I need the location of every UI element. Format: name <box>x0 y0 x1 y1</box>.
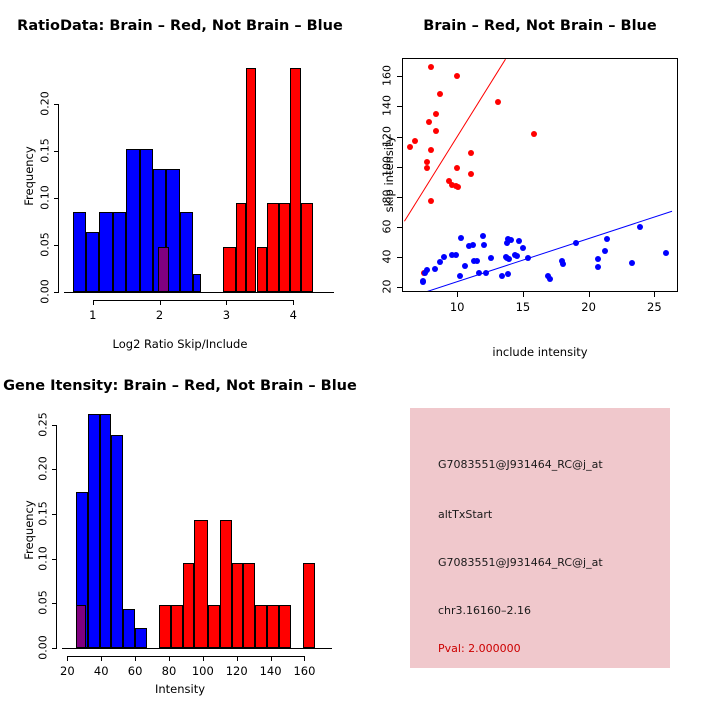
histogram-bar <box>303 563 315 648</box>
scatter-point <box>420 279 426 285</box>
annotation-line: altTxStart <box>438 508 492 521</box>
scatter-point <box>481 242 487 248</box>
scatter-point <box>468 171 474 177</box>
scatter-point <box>488 255 494 261</box>
y-tick <box>54 245 59 246</box>
histogram-bar <box>279 203 290 292</box>
scatter-point <box>505 271 511 277</box>
y-tick <box>54 104 59 105</box>
x-tick <box>237 656 238 661</box>
y-tick <box>52 559 57 560</box>
x-tick <box>654 292 655 297</box>
scatter-point <box>514 253 520 259</box>
scatter-point <box>547 276 553 282</box>
scatter-point <box>454 73 460 79</box>
y-tick <box>397 197 402 198</box>
scatter-point <box>428 198 434 204</box>
histogram-bar <box>183 563 195 648</box>
ratio-histogram-title: RatioData: Brain – Red, Not Brain – Blue <box>0 18 360 34</box>
histogram-bar <box>232 563 244 648</box>
y-axis-label: Frequency <box>22 116 36 236</box>
annotation-line: G7083551@J931464_RC@j_at <box>438 458 603 471</box>
scatter-point <box>433 128 439 134</box>
y-tick <box>52 469 57 470</box>
scatter-point <box>520 245 526 251</box>
y-tick <box>52 603 57 604</box>
scatter-point <box>437 91 443 97</box>
scatter-point <box>604 236 610 242</box>
histogram-bar <box>246 68 256 292</box>
x-tick <box>457 292 458 297</box>
scatter-point <box>499 273 505 279</box>
scatter-point <box>468 150 474 156</box>
histogram-bar <box>76 605 86 648</box>
histogram-bar <box>73 212 86 292</box>
scatter-point <box>595 264 601 270</box>
y-tick <box>397 167 402 168</box>
y-tick-label: 0.15 <box>37 494 50 534</box>
x-tick <box>523 292 524 297</box>
scatter-point <box>525 255 531 261</box>
y-tick-label: 0.00 <box>37 628 50 668</box>
y-tick <box>54 198 59 199</box>
scatter-point <box>457 273 463 279</box>
x-tick <box>93 300 94 305</box>
scatter-point <box>412 138 418 144</box>
scatter-title: Brain – Red, Not Brain – Blue <box>360 18 720 34</box>
y-tick-label: 0.10 <box>37 538 50 578</box>
x-tick <box>169 656 170 661</box>
scatter-frame <box>402 58 678 292</box>
y-tick <box>52 648 57 649</box>
scatter-point <box>516 238 522 244</box>
y-axis-line <box>56 425 57 648</box>
y-tick-label: 0.00 <box>39 272 52 312</box>
annotation-box: G7083551@J931464_RC@j_ataltTxStartG70835… <box>410 408 670 668</box>
scatter-point <box>474 258 480 264</box>
x-axis-line <box>93 300 294 301</box>
x-tick-label: 10 <box>437 300 477 314</box>
y-tick <box>397 227 402 228</box>
histogram-bar <box>158 247 169 292</box>
histogram-bar <box>126 149 139 292</box>
scatter-point <box>495 99 501 105</box>
scatter-point <box>407 144 413 150</box>
histogram-bar <box>220 520 232 648</box>
y-tick-label: 160 <box>381 56 394 96</box>
histogram-bar <box>257 247 267 292</box>
panel-gene-intensity-histogram: Gene Itensity: Brain – Red, Not Brain – … <box>0 360 360 720</box>
scatter-point <box>476 270 482 276</box>
panel-annotation: G7083551@J931464_RC@j_ataltTxStartG70835… <box>360 360 720 720</box>
histogram-bar <box>111 435 123 648</box>
x-tick <box>304 656 305 661</box>
scatter-point <box>455 184 461 190</box>
histogram-bar <box>236 203 246 292</box>
y-tick <box>397 257 402 258</box>
y-axis-label: skip intensity <box>382 104 396 244</box>
histogram-bar <box>86 232 99 292</box>
histogram-bar <box>208 605 220 648</box>
scatter-point <box>560 261 566 267</box>
histogram-bar <box>255 605 267 648</box>
x-tick <box>226 300 227 305</box>
histogram-bar <box>99 212 112 292</box>
scatter-point <box>466 243 472 249</box>
histogram-bar <box>243 563 255 648</box>
scatter-point <box>504 240 510 246</box>
scatter-point <box>428 64 434 70</box>
scatter-point <box>424 165 430 171</box>
y-tick-label: 0.05 <box>37 583 50 623</box>
scatter-point <box>480 233 486 239</box>
annotation-pval: Pval: 2.000000 <box>438 642 521 655</box>
x-axis-baseline <box>62 648 332 649</box>
histogram-bar <box>171 605 183 648</box>
x-axis-label: Intensity <box>0 682 360 696</box>
histogram-bar <box>140 149 153 292</box>
x-tick-label: 25 <box>634 300 674 314</box>
scatter-point <box>637 224 643 230</box>
histogram-bar <box>159 605 171 648</box>
histogram-bar <box>123 609 135 648</box>
scatter-point <box>595 256 601 262</box>
scatter-point <box>663 250 669 256</box>
annotation-line: chr3.16160–2.16 <box>438 604 531 617</box>
x-tick-label: 4 <box>273 308 313 322</box>
y-tick <box>397 137 402 138</box>
scatter-point <box>462 263 468 269</box>
y-tick-label: 0.25 <box>37 404 50 444</box>
histogram-bar <box>267 605 279 648</box>
x-tick <box>160 300 161 305</box>
histogram-bar <box>194 520 208 648</box>
annotation-line: G7083551@J931464_RC@j_at <box>438 556 603 569</box>
x-tick <box>67 656 68 661</box>
x-tick-label: 2 <box>140 308 180 322</box>
x-tick-label: 15 <box>503 300 543 314</box>
y-tick <box>54 151 59 152</box>
histogram-bar <box>267 203 279 292</box>
scatter-point <box>432 266 438 272</box>
x-tick-label: 20 <box>569 300 609 314</box>
regression-line <box>404 59 506 222</box>
x-tick <box>271 656 272 661</box>
x-tick-label: 3 <box>206 308 246 322</box>
scatter-point <box>433 111 439 117</box>
histogram-bar <box>135 628 147 648</box>
scatter-point <box>483 270 489 276</box>
x-axis-label: include intensity <box>360 345 720 359</box>
gene-intensity-title: Gene Itensity: Brain – Red, Not Brain – … <box>0 378 360 394</box>
y-tick-label: 0.10 <box>39 178 52 218</box>
scatter-point <box>422 270 428 276</box>
y-tick-label: 0.20 <box>37 449 50 489</box>
histogram-bar <box>290 68 301 292</box>
x-tick <box>101 656 102 661</box>
x-tick-label: 160 <box>284 664 324 678</box>
histogram-bar <box>88 414 100 648</box>
scatter-point <box>453 252 459 258</box>
y-tick <box>52 514 57 515</box>
y-axis-label: Frequency <box>22 470 36 590</box>
y-tick <box>397 76 402 77</box>
histogram-bar <box>113 212 126 292</box>
y-tick <box>52 425 57 426</box>
y-tick <box>54 292 59 293</box>
panel-intensity-scatter: Brain – Red, Not Brain – Blue 2040608010… <box>360 0 720 360</box>
x-axis-baseline <box>64 292 334 293</box>
x-tick <box>293 300 294 305</box>
scatter-point <box>602 248 608 254</box>
scatter-point <box>506 256 512 262</box>
y-tick-label: 0.05 <box>39 225 52 265</box>
scatter-point <box>454 165 460 171</box>
scatter-point <box>426 119 432 125</box>
scatter-point <box>458 235 464 241</box>
histogram-bar <box>223 247 236 292</box>
scatter-point <box>573 240 579 246</box>
y-tick <box>397 106 402 107</box>
y-tick-label: 0.20 <box>39 84 52 124</box>
x-tick <box>203 656 204 661</box>
y-tick <box>397 287 402 288</box>
y-tick-label: 0.15 <box>39 131 52 171</box>
panel-ratio-histogram: RatioData: Brain – Red, Not Brain – Blue… <box>0 0 360 360</box>
histogram-bar <box>100 414 112 648</box>
scatter-point <box>629 260 635 266</box>
histogram-bar <box>180 212 193 292</box>
x-tick <box>589 292 590 297</box>
histogram-bar <box>279 605 291 648</box>
histogram-bar <box>193 274 201 292</box>
scatter-point <box>428 147 434 153</box>
x-tick <box>135 656 136 661</box>
x-tick-label: 1 <box>73 308 113 322</box>
x-axis-line <box>67 656 304 657</box>
histogram-bar <box>301 203 313 292</box>
scatter-point <box>437 259 443 265</box>
scatter-point <box>531 131 537 137</box>
x-axis-label: Log2 Ratio Skip/Include <box>0 337 360 351</box>
scatter-point <box>424 159 430 165</box>
